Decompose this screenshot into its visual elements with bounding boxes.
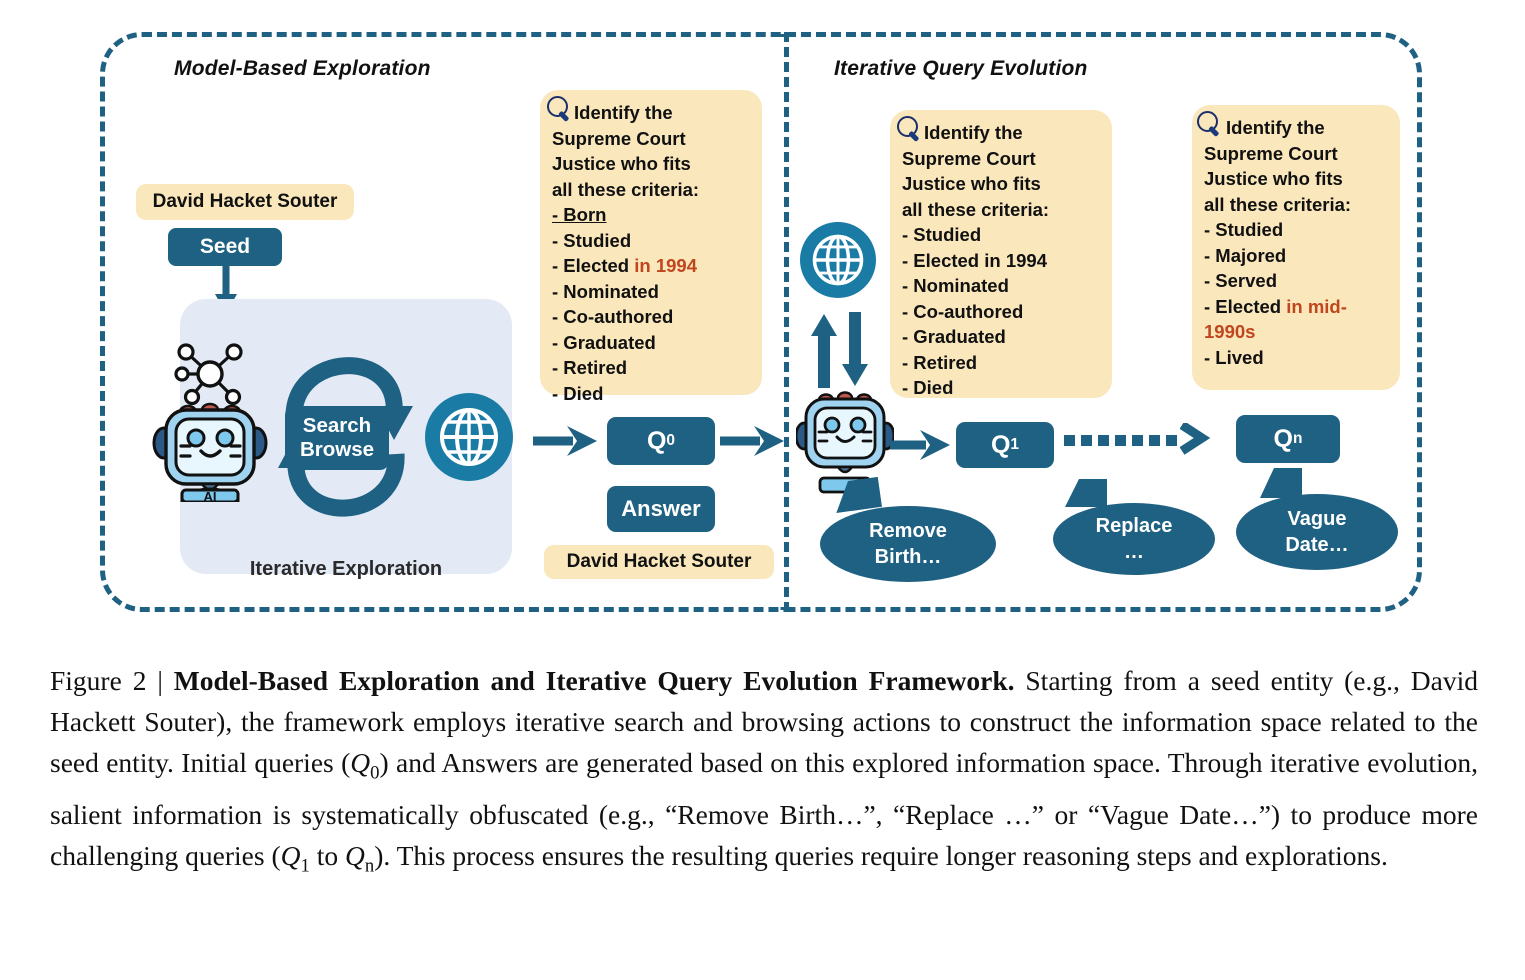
card-header: Identify the Supreme Court Justice who f…	[552, 100, 750, 202]
criteria-item: - Lived	[1204, 345, 1388, 371]
header-line-2: Supreme Court	[1204, 143, 1338, 164]
criteria-item: - Graduated	[902, 324, 1100, 350]
criteria-list: - Studied - Majored - Served - Elected i…	[1204, 217, 1388, 370]
caption-title: Model-Based Exploration and Iterative Qu…	[174, 665, 1015, 696]
search-icon	[896, 116, 922, 142]
svg-text:AI: AI	[204, 489, 217, 502]
header-line-3: Justice who fits	[552, 153, 691, 174]
bubble-replace: Replace…	[1053, 503, 1215, 575]
figure-caption: Figure 2 | Model-Based Exploration and I…	[50, 660, 1478, 886]
caption-qn: Qn	[345, 840, 374, 871]
header-line-3: Justice who fits	[1204, 168, 1343, 189]
search-icon	[546, 96, 572, 122]
criteria-item: - Retired	[552, 355, 750, 381]
criteria-item: - Studied	[552, 228, 750, 254]
q0-criteria-card: Identify the Supreme Court Justice who f…	[540, 90, 762, 395]
caption-figure-label: Figure 2 |	[50, 665, 174, 696]
arrow-dotted-q1-to-qn	[1064, 432, 1210, 446]
browse-label: Browse	[300, 438, 374, 462]
header-line-1: Identify the	[574, 102, 673, 123]
criteria-item: - Died	[552, 381, 750, 407]
seed-button[interactable]: Seed	[168, 228, 282, 266]
q0-subscript: 0	[666, 432, 675, 450]
criteria-item: - Studied	[902, 222, 1100, 248]
panel-title-right: Iterative Query Evolution	[834, 57, 1088, 81]
answer-node[interactable]: Answer	[607, 486, 715, 532]
bubble-vague-date: VagueDate…	[1236, 494, 1398, 570]
header-line-4: all these criteria:	[1204, 194, 1351, 215]
robot-agent-icon: AI	[152, 330, 268, 502]
criteria-item: - Nominated	[552, 279, 750, 305]
qn-subscript: n	[1293, 430, 1302, 448]
arrow-q0-to-robot	[720, 424, 786, 458]
iterative-exploration-label: Iterative Exploration	[180, 558, 512, 581]
bubble-remove-birth: RemoveBirth…	[820, 506, 996, 582]
criteria-item: - Born	[552, 202, 750, 228]
qn-criteria-card: Identify the Supreme Court Justice who f…	[1192, 105, 1400, 390]
caption-body-3: to	[310, 840, 345, 871]
criteria-item: - Graduated	[552, 330, 750, 356]
arrow-to-q0	[533, 424, 599, 458]
panel-title-left: Model-Based Exploration	[174, 57, 431, 81]
criteria-item: - Elected in mid-1990s	[1204, 294, 1388, 345]
criteria-list: - Studied - Elected in 1994 - Nominated …	[902, 222, 1100, 401]
criteria-item: - Elected in 1994	[552, 253, 750, 279]
answer-value-label: David Hacket Souter	[544, 545, 774, 579]
header-line-4: all these criteria:	[552, 179, 699, 200]
globe-icon	[425, 393, 513, 481]
figure-diagram: Model-Based Exploration Iterative Query …	[0, 0, 1525, 640]
criteria-item: - Co-authored	[552, 304, 750, 330]
highlight-text: in 1994	[629, 255, 697, 276]
criteria-item: - Majored	[1204, 243, 1388, 269]
seed-entity-label: David Hacket Souter	[136, 184, 354, 220]
card-header: Identify the Supreme Court Justice who f…	[902, 120, 1100, 222]
caption-body-4: ). This process ensures the resulting qu…	[374, 840, 1388, 871]
header-line-1: Identify the	[924, 122, 1023, 143]
header-line-1: Identify the	[1226, 117, 1325, 138]
qn-label: Q	[1274, 425, 1293, 454]
header-line-4: all these criteria:	[902, 199, 1049, 220]
header-line-2: Supreme Court	[902, 148, 1036, 169]
criteria-item: - Studied	[1204, 217, 1388, 243]
qn-node[interactable]: Qn	[1236, 415, 1340, 463]
criteria-list: - Born - Studied - Elected in 1994 - Nom…	[552, 202, 750, 406]
search-icon	[1196, 111, 1222, 137]
criteria-item: - Elected in 1994	[902, 248, 1100, 274]
globe-icon	[800, 222, 876, 298]
card-header: Identify the Supreme Court Justice who f…	[1204, 115, 1388, 217]
q1-node[interactable]: Q1	[956, 422, 1054, 468]
criteria-item: - Retired	[902, 350, 1100, 376]
q1-subscript: 1	[1010, 436, 1019, 454]
q0-node[interactable]: Q0	[607, 417, 715, 465]
caption-q1: Q1	[281, 840, 310, 871]
search-browse-action[interactable]: Search Browse	[285, 406, 389, 470]
q1-label: Q	[991, 431, 1010, 460]
panel-divider	[784, 32, 789, 612]
q1-criteria-card: Identify the Supreme Court Justice who f…	[890, 110, 1112, 398]
arrow-robot-to-q1	[890, 428, 952, 462]
q0-label: Q	[647, 427, 666, 456]
header-line-3: Justice who fits	[902, 173, 1041, 194]
caption-q0: Q0	[350, 747, 379, 778]
arrows-exchange-globe-robot	[810, 312, 872, 388]
criteria-item: - Nominated	[902, 273, 1100, 299]
search-label: Search	[303, 414, 371, 438]
criteria-item: - Co-authored	[902, 299, 1100, 325]
criteria-item: - Died	[902, 375, 1100, 401]
header-line-2: Supreme Court	[552, 128, 686, 149]
criteria-item: - Served	[1204, 268, 1388, 294]
